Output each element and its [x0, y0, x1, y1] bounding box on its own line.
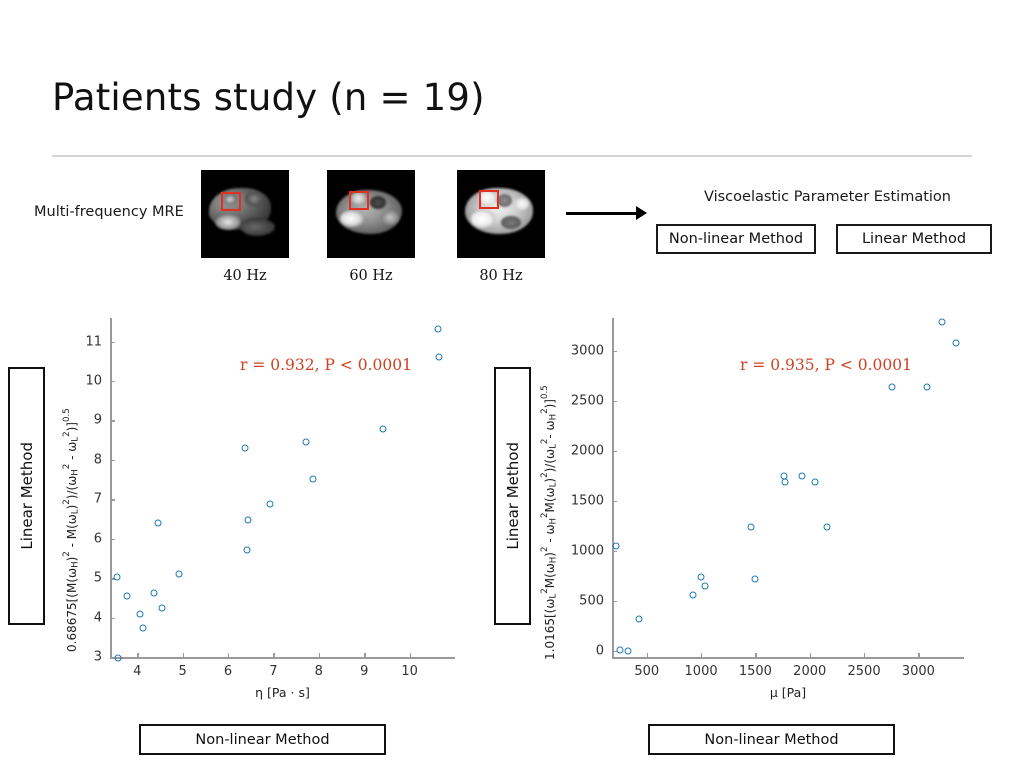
mre-image-60hz	[327, 170, 415, 258]
y-tick	[110, 460, 115, 461]
data-point	[139, 625, 146, 632]
y-axis-label-left: 0.68675[(M(ωH)2 - M(ωL)2)/(ωH2 - ωL2)]0.…	[62, 352, 80, 652]
data-point	[752, 576, 759, 583]
data-point	[245, 516, 252, 523]
data-point	[154, 519, 161, 526]
y-axis-line	[612, 318, 614, 659]
data-point	[176, 571, 183, 578]
data-point	[136, 611, 143, 618]
mre-image-80hz	[457, 170, 545, 258]
x-tick	[647, 653, 648, 658]
y-axis-label-right: 1.0165[(ωL2M(ωH)2 - ωH2M(ωL)2)/(ωL2- ωH2…	[540, 340, 558, 660]
data-point	[690, 591, 697, 598]
x-tick-label: 1000	[685, 664, 718, 679]
multi-frequency-mre-label: Multi-frequency MRE	[34, 204, 184, 220]
y-tick	[110, 420, 115, 421]
linear-method-vertical-label-left: Linear Method	[18, 442, 36, 550]
data-point	[242, 445, 249, 452]
x-tick	[755, 653, 756, 658]
x-tick	[701, 653, 702, 658]
y-axis-line	[110, 318, 112, 659]
x-tick	[273, 653, 274, 658]
y-tick	[110, 342, 115, 343]
data-point	[436, 353, 443, 360]
roi-box-40hz	[221, 192, 241, 211]
nonlinear-method-box-top[interactable]: Non-linear Method	[656, 224, 816, 254]
scatter-plot-mu: 5001000150020002500300005001000150020002…	[560, 296, 980, 696]
y-tick	[110, 618, 115, 619]
x-tick	[319, 653, 320, 658]
y-tick	[612, 551, 617, 552]
x-axis-line	[110, 657, 455, 659]
x-tick-label: 2500	[848, 664, 881, 679]
data-point	[636, 616, 643, 623]
linear-method-vertical-label-right: Linear Method	[504, 442, 522, 550]
data-point	[799, 473, 806, 480]
nonlinear-method-box-bottom-left: Non-linear Method	[139, 724, 386, 755]
x-tick-label: 3000	[902, 664, 935, 679]
y-tick	[612, 401, 617, 402]
data-point	[434, 326, 441, 333]
data-point	[698, 573, 705, 580]
data-point	[380, 426, 387, 433]
mre-caption-40hz: 40 Hz	[201, 268, 289, 284]
viscoelastic-parameter-estimation-title: Viscoelastic Parameter Estimation	[704, 189, 951, 205]
data-point	[781, 479, 788, 486]
page-title: Patients study (n = 19)	[52, 76, 485, 119]
x-tick	[918, 653, 919, 658]
x-tick-label: 2000	[793, 664, 826, 679]
x-tick-label: 6	[224, 664, 232, 679]
y-tick	[612, 501, 617, 502]
x-tick	[864, 653, 865, 658]
data-point	[702, 582, 709, 589]
linear-method-vertical-box-right: Linear Method	[494, 367, 531, 625]
data-point	[310, 475, 317, 482]
data-point	[244, 546, 251, 553]
linear-method-vertical-box-left: Linear Method	[8, 367, 45, 625]
data-point	[953, 339, 960, 346]
data-point	[748, 523, 755, 530]
data-point	[812, 479, 819, 486]
data-point	[124, 592, 131, 599]
mre-caption-80hz: 80 Hz	[457, 268, 545, 284]
x-tick-label: 500	[634, 664, 659, 679]
y-tick	[110, 499, 115, 500]
x-axis-line	[612, 657, 964, 659]
scatter-plot-eta: 4567891034567891011r = 0.932, P < 0.0001…	[50, 296, 470, 696]
data-point	[115, 654, 122, 661]
y-tick	[110, 381, 115, 382]
data-point	[823, 523, 830, 530]
x-tick	[810, 653, 811, 658]
roi-box-80hz	[479, 190, 499, 209]
data-point	[303, 439, 310, 446]
correlation-annotation: r = 0.935, P < 0.0001	[740, 356, 912, 374]
data-point	[616, 647, 623, 654]
axes-area: 5001000150020002500300005001000150020002…	[612, 318, 964, 657]
y-tick	[110, 539, 115, 540]
x-tick-label: 5	[178, 664, 186, 679]
nonlinear-method-box-bottom-right: Non-linear Method	[648, 724, 895, 755]
y-tick	[612, 601, 617, 602]
data-point	[923, 384, 930, 391]
data-point	[151, 590, 158, 597]
x-tick	[228, 653, 229, 658]
data-point	[938, 318, 945, 325]
correlation-annotation: r = 0.932, P < 0.0001	[240, 356, 412, 374]
x-tick	[183, 653, 184, 658]
data-point	[625, 647, 632, 654]
axes-area: 4567891034567891011r = 0.932, P < 0.0001…	[110, 318, 455, 657]
data-point	[612, 542, 619, 549]
x-axis-label: μ [Pa]	[770, 685, 806, 700]
y-tick	[612, 351, 617, 352]
flow-arrow-line	[566, 212, 638, 215]
x-tick	[137, 653, 138, 658]
mre-caption-60hz: 60 Hz	[327, 268, 415, 284]
data-point	[159, 604, 166, 611]
x-tick	[410, 653, 411, 658]
data-point	[889, 383, 896, 390]
x-tick-label: 1500	[739, 664, 772, 679]
data-point	[113, 574, 120, 581]
x-tick-label: 8	[315, 664, 323, 679]
mre-image-40hz	[201, 170, 289, 258]
x-tick-label: 10	[401, 664, 418, 679]
x-tick-label: 9	[360, 664, 368, 679]
y-tick	[612, 451, 617, 452]
x-tick	[364, 653, 365, 658]
title-divider	[52, 155, 972, 157]
x-tick-label: 7	[269, 664, 277, 679]
x-axis-label: η [Pa · s]	[255, 685, 310, 700]
x-tick-label: 4	[133, 664, 141, 679]
roi-box-60hz	[349, 191, 369, 210]
flow-arrow-head-icon	[636, 206, 647, 220]
linear-method-box-top[interactable]: Linear Method	[836, 224, 992, 254]
data-point	[266, 501, 273, 508]
